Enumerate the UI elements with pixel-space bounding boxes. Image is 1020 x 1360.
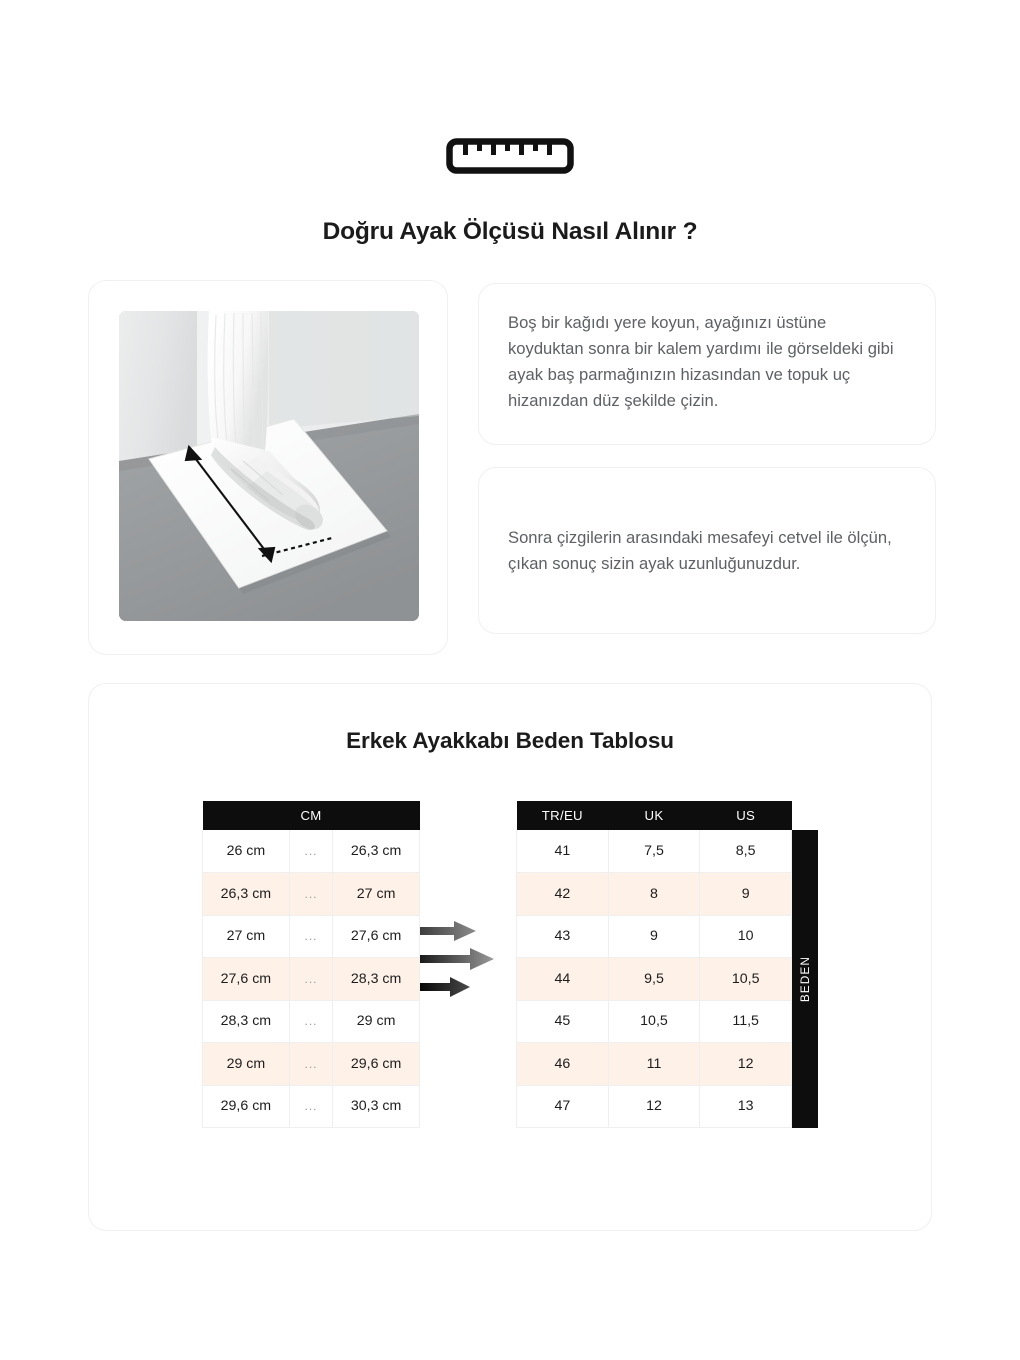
instruction-step-1: Boş bir kağıdı yere koyun, ayağınızı üst…: [478, 283, 936, 445]
table-row: 28,3 cm ... 29 cm: [203, 1000, 420, 1043]
uk-value: 9: [608, 915, 700, 958]
us-value: 10: [700, 915, 792, 958]
cm-from: 29,6 cm: [203, 1085, 290, 1128]
table-row: 27,6 cm ... 28,3 cm: [203, 958, 420, 1001]
conversion-arrows: [420, 909, 516, 1009]
uk-value: 8: [608, 873, 700, 916]
us-value: 11,5: [700, 1000, 792, 1043]
table-row: 29,6 cm ... 30,3 cm: [203, 1085, 420, 1128]
cm-range-dots: ...: [289, 958, 332, 1001]
cm-to: 28,3 cm: [333, 958, 420, 1001]
table-row: 41 7,5 8,5: [517, 830, 792, 873]
table-row: 26,3 cm ... 27 cm: [203, 873, 420, 916]
us-value: 13: [700, 1085, 792, 1128]
size-conversion-table: TR/EU UK US 41 7,5 8,5 42 8 9: [516, 801, 792, 1128]
cm-to: 27 cm: [333, 873, 420, 916]
cm-from: 27 cm: [203, 915, 290, 958]
cm-range-dots: ...: [289, 873, 332, 916]
tr-eu-value: 46: [517, 1043, 609, 1086]
cm-to: 29 cm: [333, 1000, 420, 1043]
table-row: 47 12 13: [517, 1085, 792, 1128]
table-row: 26 cm ... 26,3 cm: [203, 830, 420, 873]
us-value: 8,5: [700, 830, 792, 873]
arrow-right-icon-3: [420, 977, 470, 997]
table-row: 29 cm ... 29,6 cm: [203, 1043, 420, 1086]
instruction-step-2: Sonra çizgilerin arasındaki mesafeyi cet…: [478, 467, 936, 634]
size-table-group: CM 26 cm ... 26,3 cm 26,3 cm ... 27 cm 2…: [89, 801, 931, 1128]
illustration-card: [88, 280, 448, 655]
cm-from: 28,3 cm: [203, 1000, 290, 1043]
page-header: Doğru Ayak Ölçüsü Nasıl Alınır ?: [0, 0, 1020, 246]
cm-table: CM 26 cm ... 26,3 cm 26,3 cm ... 27 cm 2…: [202, 801, 420, 1128]
uk-value: 12: [608, 1085, 700, 1128]
size-table-header-row: TR/EU UK US: [517, 801, 792, 830]
uk-value: 10,5: [608, 1000, 700, 1043]
cm-range-dots: ...: [289, 915, 332, 958]
cm-range-dots: ...: [289, 1000, 332, 1043]
cm-from: 27,6 cm: [203, 958, 290, 1001]
uk-value: 11: [608, 1043, 700, 1086]
tr-eu-value: 43: [517, 915, 609, 958]
us-value: 12: [700, 1043, 792, 1086]
cm-table-header-row: CM: [203, 801, 420, 830]
instructions-section: Boş bir kağıdı yere koyun, ayağınızı üst…: [0, 246, 1020, 655]
cm-column-header: CM: [203, 801, 420, 830]
table-row: 27 cm ... 27,6 cm: [203, 915, 420, 958]
cm-from: 26 cm: [203, 830, 290, 873]
size-table-card: Erkek Ayakkabı Beden Tablosu CM 26 cm ..…: [88, 683, 932, 1231]
cm-range-dots: ...: [289, 1085, 332, 1128]
tr-eu-column-header: TR/EU: [517, 801, 609, 830]
uk-value: 7,5: [608, 830, 700, 873]
tr-eu-value: 45: [517, 1000, 609, 1043]
arrow-right-icon-1: [420, 921, 476, 941]
instruction-step-1-text: Boş bir kağıdı yere koyun, ayağınızı üst…: [508, 310, 905, 414]
uk-value: 9,5: [608, 958, 700, 1001]
foot-measurement-photo: [119, 311, 419, 621]
table-row: 45 10,5 11,5: [517, 1000, 792, 1043]
us-value: 9: [700, 873, 792, 916]
us-value: 10,5: [700, 958, 792, 1001]
table-row: 44 9,5 10,5: [517, 958, 792, 1001]
table-row: 42 8 9: [517, 873, 792, 916]
tr-eu-value: 41: [517, 830, 609, 873]
cm-range-dots: ...: [289, 830, 332, 873]
cm-range-dots: ...: [289, 1043, 332, 1086]
uk-column-header: UK: [608, 801, 700, 830]
ruler-icon: [0, 138, 1020, 174]
table-row: 46 11 12: [517, 1043, 792, 1086]
arrow-right-icon-2: [420, 948, 494, 970]
size-conversion-group: TR/EU UK US 41 7,5 8,5 42 8 9: [516, 801, 818, 1128]
instruction-cards: Boş bir kağıdı yere koyun, ayağınızı üst…: [478, 280, 936, 634]
size-table-title: Erkek Ayakkabı Beden Tablosu: [89, 728, 931, 754]
cm-to: 26,3 cm: [333, 830, 420, 873]
us-column-header: US: [700, 801, 792, 830]
instruction-step-2-text: Sonra çizgilerin arasındaki mesafeyi cet…: [508, 525, 905, 577]
tr-eu-value: 47: [517, 1085, 609, 1128]
page-title: Doğru Ayak Ölçüsü Nasıl Alınır ?: [0, 218, 1020, 246]
cm-to: 30,3 cm: [333, 1085, 420, 1128]
beden-label-text: BEDEN: [798, 956, 812, 1002]
tr-eu-value: 44: [517, 958, 609, 1001]
cm-to: 27,6 cm: [333, 915, 420, 958]
cm-to: 29,6 cm: [333, 1043, 420, 1086]
table-row: 43 9 10: [517, 915, 792, 958]
cm-from: 26,3 cm: [203, 873, 290, 916]
cm-from: 29 cm: [203, 1043, 290, 1086]
tr-eu-value: 42: [517, 873, 609, 916]
beden-side-label: BEDEN: [792, 830, 818, 1128]
